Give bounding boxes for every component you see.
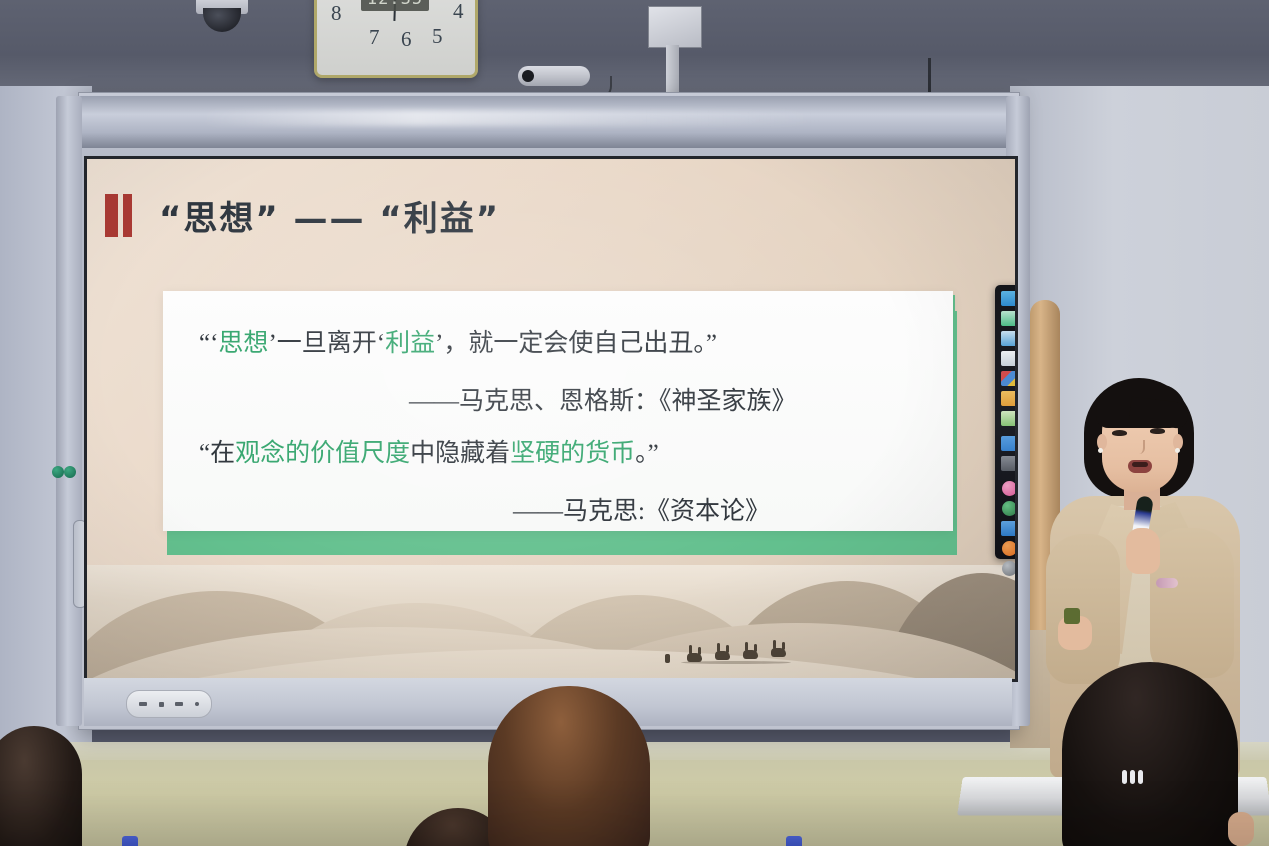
- clock-numeral: 5: [432, 24, 443, 49]
- quote-plain-text: ’一旦离开‘: [268, 330, 385, 357]
- color-palette-icon[interactable]: [1001, 371, 1018, 386]
- presenter-bracelet: [1156, 578, 1178, 588]
- presenter-arm-right: [1150, 528, 1234, 678]
- presenter-eye-left: [1112, 430, 1127, 436]
- calculator-icon[interactable]: [1001, 456, 1018, 471]
- search-icon[interactable]: [1002, 541, 1017, 556]
- audience-head: [0, 726, 82, 846]
- clock-digital-display: 12:35: [361, 0, 429, 11]
- green-app-icon[interactable]: [1002, 501, 1017, 516]
- bar-camera-icon: [518, 66, 590, 86]
- calendar-icon[interactable]: [1001, 436, 1018, 451]
- presenter-earring-right: [1175, 448, 1180, 453]
- control-button-power[interactable]: [139, 702, 147, 706]
- quote-2-text: “在观念的价值尺度中隐藏着坚硬的货币。”: [199, 441, 659, 467]
- slide-title: “思想” —— “利益”: [159, 191, 500, 240]
- wall-conduit: [666, 45, 679, 95]
- screen-share-icon[interactable]: [1001, 521, 1018, 536]
- projection-screen[interactable]: “思想” —— “利益” “‘思想’一旦离开‘利益’，就一定会使自己出丑。” —…: [84, 156, 1018, 682]
- whiteboard-control-panel[interactable]: [126, 690, 212, 718]
- ceiling-wall: [0, 0, 1269, 100]
- clock-numeral: 8: [331, 1, 342, 26]
- ceiling-antenna-icon: [928, 58, 931, 96]
- quote-plain-text: 。”: [635, 440, 659, 467]
- record-circle-icon[interactable]: [1002, 481, 1017, 496]
- presenter-earring-left: [1098, 448, 1103, 453]
- audience-head: [488, 686, 650, 846]
- audience-ear: [1228, 812, 1254, 846]
- user-profile-icon[interactable]: [1001, 311, 1018, 326]
- quote-1-attribution: ——马克思、恩格斯：《神圣家族》: [409, 389, 797, 415]
- control-button-menu[interactable]: [175, 702, 183, 706]
- presenter-arm-left: [1046, 534, 1120, 684]
- dome-security-camera-icon: [196, 0, 248, 38]
- quote-highlight-text: 思想: [218, 330, 268, 357]
- camera-dome: [203, 8, 241, 32]
- control-button-volume[interactable]: [195, 702, 199, 706]
- wall-junction-box-icon: [648, 6, 702, 48]
- clock-numeral: 7: [369, 25, 380, 50]
- quote-highlight-text: 观念的价值尺度: [235, 440, 410, 467]
- presenter-eye-right: [1150, 428, 1165, 434]
- quote-2-attribution: ——马克思:《资本论》: [513, 499, 770, 525]
- quote-plain-text: ’，就一定会使自己出丑。”: [435, 330, 717, 357]
- quote-highlight-text: 利益: [385, 330, 435, 357]
- presenter-mouth: [1128, 460, 1152, 473]
- clock-numeral: 4: [453, 0, 464, 24]
- presenter-nose: [1135, 440, 1145, 454]
- display-monitor-icon[interactable]: [1001, 291, 1018, 306]
- photo-gallery-icon[interactable]: [1001, 411, 1018, 426]
- presenter-hand-right: [1126, 528, 1160, 574]
- wall-clock: 9 8 7 6 5 4 3 12:35: [314, 0, 478, 78]
- desert-dunes-image: [87, 565, 1015, 682]
- audience-head: [1062, 662, 1238, 846]
- document-icon[interactable]: [1001, 351, 1018, 366]
- folder-icon[interactable]: [1001, 391, 1018, 406]
- image-viewer-icon[interactable]: [1001, 331, 1018, 346]
- presenter-hair-fringe: [1096, 384, 1186, 428]
- slide-title-row: “思想” —— “利益”: [105, 191, 500, 240]
- settings-gear-icon[interactable]: [1002, 561, 1017, 576]
- clock-numeral: 6: [401, 27, 412, 52]
- classroom-scene: 9 8 7 6 5 4 3 12:35 “思想” —— “利益” “‘思想’一旦…: [0, 0, 1269, 846]
- application-dock[interactable]: [995, 285, 1018, 559]
- hair-clip: [1122, 770, 1150, 786]
- water-bottle: [786, 836, 802, 846]
- quote-1-text: “‘思想’一旦离开‘利益’，就一定会使自己出丑。”: [199, 331, 717, 357]
- control-button-input[interactable]: [159, 702, 164, 707]
- marker-pen-holder[interactable]: [52, 466, 78, 478]
- whiteboard-top-bezel: [80, 96, 1016, 148]
- quote-plain-text: “在: [199, 440, 235, 467]
- quote-card: “‘思想’一旦离开‘利益’，就一定会使自己出丑。” ——马克思、恩格斯：《神圣家…: [163, 291, 953, 531]
- whiteboard-left-rail: [56, 96, 82, 726]
- quote-plain-text: “‘: [199, 330, 218, 357]
- presentation-clicker-icon: [1064, 608, 1080, 624]
- quote-highlight-text: 坚硬的货币: [510, 440, 635, 467]
- title-accent-bars: [105, 194, 137, 237]
- water-bottle: [122, 836, 138, 846]
- quote-plain-text: 中隐藏着: [410, 440, 510, 467]
